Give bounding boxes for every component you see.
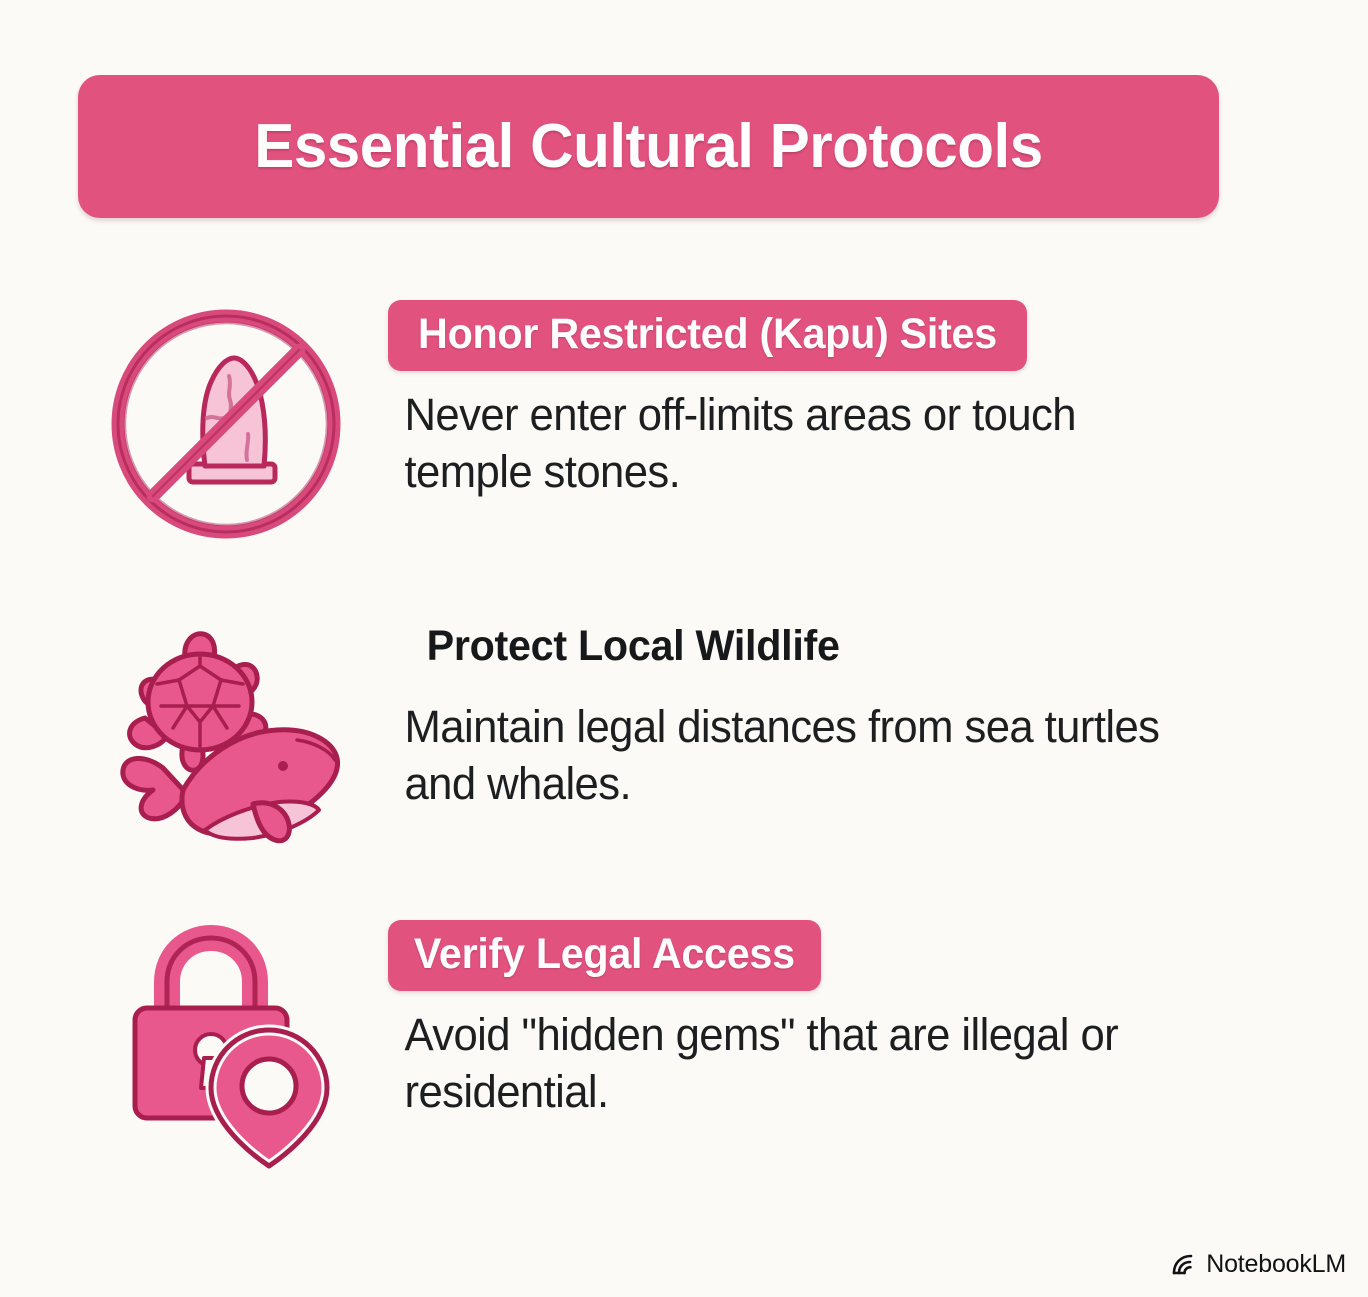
sea-turtle-and-whale-icon <box>96 618 356 858</box>
protocol-3-heading-pill: Verify Legal Access <box>388 920 821 991</box>
padlock-and-map-pin-icon <box>96 926 356 1171</box>
infographic-page: Essential Cultural Protocols <box>0 0 1368 1297</box>
no-entry-temple-stone-glyph <box>101 306 351 556</box>
protocol-1-heading: Honor Restricted (Kapu) Sites <box>418 313 997 356</box>
page-title: Essential Cultural Protocols <box>254 116 1042 178</box>
no-entry-temple-stone-icon <box>96 306 356 556</box>
watermark-label: NotebookLM <box>1206 1250 1346 1279</box>
protocol-3-heading: Verify Legal Access <box>414 933 795 976</box>
protocol-1-text: Honor Restricted (Kapu) Sites Never ente… <box>388 300 1288 500</box>
notebooklm-watermark: NotebookLM <box>1171 1250 1346 1279</box>
protocol-1-body: Never enter off-limits areas or touch te… <box>388 387 1180 500</box>
protocol-3-body: Avoid "hidden gems" that are illegal or … <box>388 1007 1180 1120</box>
padlock-and-map-pin-glyph <box>101 926 351 1171</box>
page-title-banner: Essential Cultural Protocols <box>78 75 1219 218</box>
protocol-2-body: Maintain legal distances from sea turtle… <box>388 699 1180 812</box>
protocol-2-heading: Protect Local Wildlife <box>427 625 840 668</box>
map-pin-icon <box>211 1030 327 1166</box>
protocol-1-heading-pill: Honor Restricted (Kapu) Sites <box>388 300 1027 371</box>
sea-turtle-and-whale-glyph <box>101 618 351 858</box>
protocol-2-heading-wrapper: Protect Local Wildlife <box>388 612 1288 683</box>
protocol-2-text: Protect Local Wildlife Maintain legal di… <box>388 612 1288 812</box>
protocol-3-text: Verify Legal Access Avoid "hidden gems" … <box>388 920 1288 1120</box>
notebooklm-spiral-logo <box>1171 1252 1197 1278</box>
